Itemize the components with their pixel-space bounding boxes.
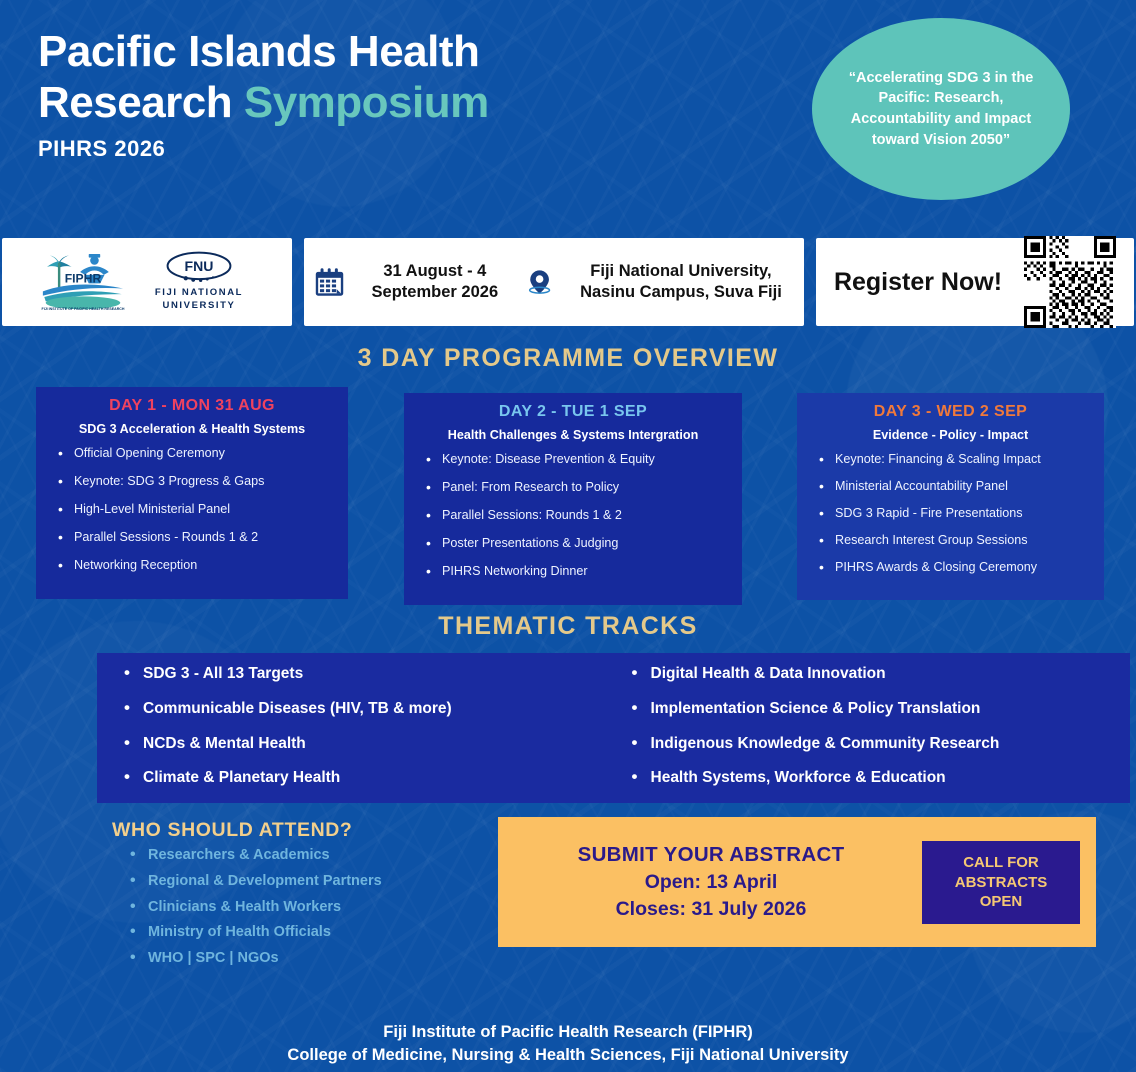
list-item: Researchers & Academics: [112, 846, 472, 866]
location-pin-icon: [525, 257, 554, 307]
list-item: Panel: From Research to Policy: [418, 480, 728, 495]
list-item: Ministerial Accountability Panel: [811, 479, 1090, 494]
call-for-abstracts-badge[interactable]: CALL FOR ABSTRACTS OPEN: [922, 841, 1080, 924]
list-item: SDG 3 - All 13 Targets: [115, 665, 605, 683]
info-bar: FIPHR FIJI INSTITUTE OF PACIFIC HEALTH R…: [0, 238, 1136, 326]
tracks-heading: THEMATIC TRACKS: [0, 612, 1136, 641]
day-card-2: DAY 2 - TUE 1 SEP Health Challenges & Sy…: [404, 393, 742, 605]
list-item: Indigenous Knowledge & Community Researc…: [623, 735, 1113, 753]
footer-line-1: Fiji Institute of Pacific Health Researc…: [0, 1021, 1136, 1044]
list-item: Networking Reception: [50, 558, 334, 573]
svg-text:FIPHR: FIPHR: [65, 272, 102, 286]
list-item: Digital Health & Data Innovation: [623, 665, 1113, 683]
list-item: Climate & Planetary Health: [115, 769, 605, 787]
list-item: Ministry of Health Officials: [112, 923, 472, 943]
logos-panel: FIPHR FIJI INSTITUTE OF PACIFIC HEALTH R…: [2, 238, 292, 326]
day-2-title: DAY 2 - TUE 1 SEP: [418, 403, 728, 421]
list-item: Parallel Sessions - Rounds 1 & 2: [50, 530, 334, 545]
list-item: Clinicians & Health Workers: [112, 898, 472, 918]
day-2-agenda: Keynote: Disease Prevention & Equity Pan…: [418, 452, 728, 580]
tracks-column-left: SDG 3 - All 13 Targets Communicable Dise…: [115, 665, 605, 789]
fnu-line-2: UNIVERSITY: [162, 300, 235, 311]
who-should-attend-heading: WHO SHOULD ATTEND?: [112, 819, 472, 842]
title-block: Pacific Islands Health Research Symposiu…: [38, 26, 718, 162]
fnu-logo: FNU FIJI NATIONAL UNIVERSITY: [144, 251, 254, 313]
programme-heading: 3 DAY PROGRAMME OVERVIEW: [0, 344, 1136, 373]
day-card-3: DAY 3 - WED 2 SEP Evidence - Policy - Im…: [797, 393, 1104, 600]
day-3-subtitle: Evidence - Policy - Impact: [811, 428, 1090, 442]
footer-line-2: College of Medicine, Nursing & Health Sc…: [0, 1044, 1136, 1067]
svg-text:FIJI INSTITUTE OF PACIFIC HEAL: FIJI INSTITUTE OF PACIFIC HEALTH RESEARC…: [42, 307, 125, 311]
venue-text: Fiji National University, Nasinu Campus,…: [568, 261, 794, 303]
list-item: Communicable Diseases (HIV, TB & more): [115, 700, 605, 718]
poster-canvas: Pacific Islands Health Research Symposiu…: [0, 0, 1136, 1072]
list-item: WHO | SPC | NGOs: [112, 949, 472, 969]
list-item: Research Interest Group Sessions: [811, 533, 1090, 548]
day-2-subtitle: Health Challenges & Systems Intergration: [418, 428, 728, 442]
list-item: Implementation Science & Policy Translat…: [623, 700, 1113, 718]
calendar-icon: [314, 256, 345, 308]
day-cards-row: DAY 1 - MON 31 AUG SDG 3 Acceleration & …: [0, 387, 1136, 592]
footer-block: Fiji Institute of Pacific Health Researc…: [0, 1021, 1136, 1072]
day-3-title: DAY 3 - WED 2 SEP: [811, 403, 1090, 421]
abstract-open-date: Open: 13 April: [514, 871, 908, 894]
badge-line-3: OPEN: [930, 892, 1072, 912]
abstract-text-group: SUBMIT YOUR ABSTRACT Open: 13 April Clos…: [514, 843, 908, 921]
date-venue-panel: 31 August - 4 September 2026 Fiji Nation…: [304, 238, 804, 326]
badge-line-1: CALL FOR: [930, 853, 1072, 873]
lower-section: WHO SHOULD ATTEND? Researchers & Academi…: [0, 819, 1136, 975]
list-item: High-Level Ministerial Panel: [50, 502, 334, 517]
fiphr-logo-icon: FIPHR FIJI INSTITUTE OF PACIFIC HEALTH R…: [40, 251, 126, 313]
list-item: Parallel Sessions: Rounds 1 & 2: [418, 508, 728, 523]
day-1-agenda: Official Opening Ceremony Keynote: SDG 3…: [50, 446, 334, 574]
list-item: NCDs & Mental Health: [115, 735, 605, 753]
list-item: Poster Presentations & Judging: [418, 536, 728, 551]
venue-group: Fiji National University, Nasinu Campus,…: [525, 257, 794, 307]
thematic-tracks-panel: SDG 3 - All 13 Targets Communicable Dise…: [97, 653, 1130, 803]
list-item: PIHRS Networking Dinner: [418, 564, 728, 579]
event-dates: 31 August - 4 September 2026: [365, 261, 505, 303]
footer-line-3: For more information contact: Dr Donald …: [0, 1068, 1136, 1072]
header-band: Pacific Islands Health Research Symposiu…: [0, 0, 1136, 238]
day-3-agenda: Keynote: Financing & Scaling Impact Mini…: [811, 452, 1090, 576]
badge-line-2: ABSTRACTS: [930, 873, 1072, 893]
list-item: Regional & Development Partners: [112, 872, 472, 892]
abstract-headline: SUBMIT YOUR ABSTRACT: [514, 843, 908, 867]
list-item: Keynote: Financing & Scaling Impact: [811, 452, 1090, 467]
title-line-1: Pacific Islands Health: [38, 27, 479, 76]
title-line-2-accent: Symposium: [244, 78, 489, 127]
register-panel[interactable]: Register Now!: [816, 238, 1134, 326]
page-title: Pacific Islands Health Research Symposiu…: [38, 26, 718, 128]
day-card-1: DAY 1 - MON 31 AUG SDG 3 Acceleration & …: [36, 387, 348, 599]
fnu-line-1: FIJI NATIONAL: [155, 287, 243, 298]
day-1-title: DAY 1 - MON 31 AUG: [50, 397, 334, 415]
title-line-2-plain: Research: [38, 78, 244, 127]
list-item: SDG 3 Rapid - Fire Presentations: [811, 506, 1090, 521]
list-item: Keynote: Disease Prevention & Equity: [418, 452, 728, 467]
list-item: Official Opening Ceremony: [50, 446, 334, 461]
list-item: Health Systems, Workforce & Education: [623, 769, 1113, 787]
who-should-attend-block: WHO SHOULD ATTEND? Researchers & Academi…: [112, 819, 472, 975]
who-should-attend-list: Researchers & Academics Regional & Devel…: [112, 846, 472, 969]
register-now-label: Register Now!: [834, 268, 1002, 296]
abstract-submission-panel: SUBMIT YOUR ABSTRACT Open: 13 April Clos…: [498, 817, 1096, 947]
list-item: PIHRS Awards & Closing Ceremony: [811, 560, 1090, 575]
qr-code-icon[interactable]: [1024, 236, 1116, 328]
tracks-column-right: Digital Health & Data Innovation Impleme…: [623, 665, 1113, 789]
fnu-logo-label: FIJI NATIONAL UNIVERSITY: [155, 287, 243, 313]
event-subtitle: PIHRS 2026: [38, 136, 718, 162]
day-1-subtitle: SDG 3 Acceleration & Health Systems: [50, 422, 334, 436]
list-item: Keynote: SDG 3 Progress & Gaps: [50, 474, 334, 489]
theme-bubble: “Accelerating SDG 3 in the Pacific: Rese…: [812, 18, 1070, 200]
theme-bubble-text: “Accelerating SDG 3 in the Pacific: Rese…: [812, 68, 1070, 150]
abstract-close-date: Closes: 31 July 2026: [514, 898, 908, 921]
fnu-monogram-icon: FNU: [149, 251, 249, 287]
svg-text:FNU: FNU: [185, 258, 214, 274]
